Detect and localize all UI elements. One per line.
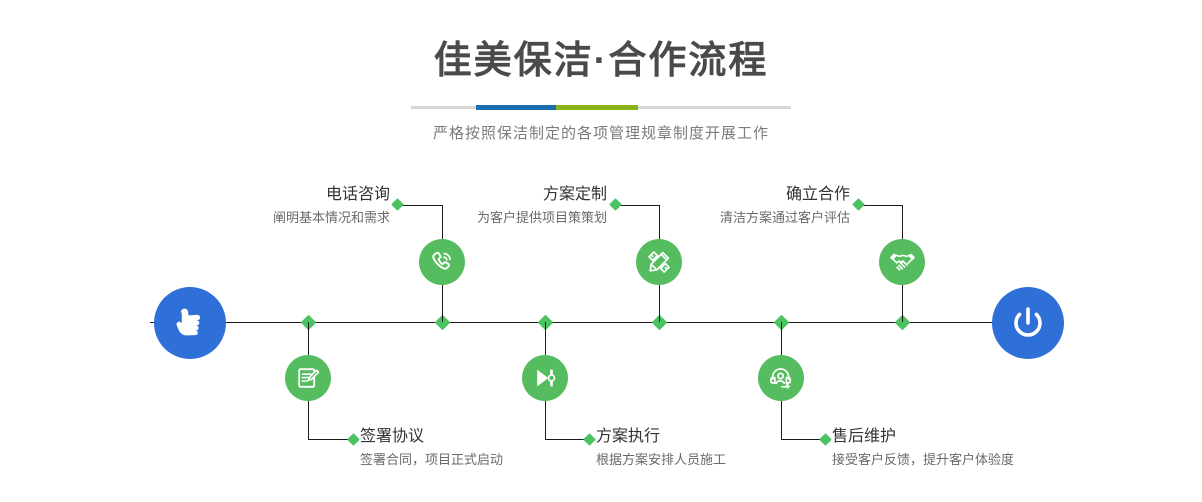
flow-start-node	[154, 287, 226, 359]
title-divider	[411, 106, 791, 109]
step-subtitle-1: 阐明基本情况和需求	[240, 211, 390, 226]
handshake-icon	[889, 249, 916, 276]
connector-hline-step5	[859, 205, 903, 206]
step-title-4: 方案执行	[596, 428, 816, 446]
step-title-2: 签署协议	[360, 428, 580, 446]
step-title-3: 方案定制	[457, 186, 607, 204]
timeline-axis	[150, 322, 1052, 323]
step-label-2: 签署协议 签署合同，项目正式启动	[360, 428, 580, 468]
flow-diagram-canvas: 佳美保洁·合作流程 严格按照保洁制定的各项管理规章制度开展工作	[0, 0, 1202, 502]
label-marker-step3	[609, 198, 622, 211]
step-label-5: 确立合作 清洁方案通过客户评估	[700, 186, 850, 226]
step-icon-3	[636, 239, 682, 285]
label-marker-step1	[391, 198, 404, 211]
divider-segment-green	[556, 105, 638, 110]
document-sign-icon	[295, 365, 321, 391]
step-icon-1	[419, 239, 465, 285]
label-marker-step4	[583, 433, 596, 446]
step-subtitle-2: 签署合同，项目正式启动	[360, 453, 580, 468]
header: 佳美保洁·合作流程 严格按照保洁制定的各项管理规章制度开展工作	[0, 0, 1202, 143]
step-icon-4	[522, 355, 568, 401]
connector-hline-step3	[616, 205, 660, 206]
flow-end-node	[992, 287, 1064, 359]
divider-segment-blue	[476, 105, 556, 110]
step-subtitle-4: 根据方案安排人员施工	[596, 453, 816, 468]
step-subtitle-3: 为客户提供项目策策划	[457, 211, 607, 226]
page-title: 佳美保洁·合作流程	[0, 0, 1202, 80]
pointing-hand-icon	[170, 303, 210, 343]
step-label-3: 方案定制 为客户提供项目策策划	[457, 186, 607, 226]
headset-support-icon	[768, 365, 794, 391]
step-label-6: 售后维护 接受客户反馈，提升客户体验度	[832, 428, 1072, 468]
step-icon-2	[285, 355, 331, 401]
label-marker-step2	[347, 433, 360, 446]
step-icon-6	[758, 355, 804, 401]
pencil-ruler-icon	[646, 249, 672, 275]
phone-call-icon	[429, 249, 455, 275]
power-icon	[1007, 302, 1049, 344]
label-marker-step6	[819, 433, 832, 446]
step-subtitle-5: 清洁方案通过客户评估	[700, 211, 850, 226]
play-execute-icon	[532, 365, 558, 391]
step-label-1: 电话咨询 阐明基本情况和需求	[240, 186, 390, 226]
step-title-6: 售后维护	[832, 428, 1072, 446]
step-title-5: 确立合作	[700, 186, 850, 204]
step-icon-5	[879, 239, 925, 285]
label-marker-step5	[852, 198, 865, 211]
step-subtitle-6: 接受客户反馈，提升客户体验度	[832, 453, 1072, 468]
page-subtitle: 严格按照保洁制定的各项管理规章制度开展工作	[0, 122, 1202, 143]
connector-hline-step1	[398, 205, 443, 206]
step-label-4: 方案执行 根据方案安排人员施工	[596, 428, 816, 468]
step-title-1: 电话咨询	[240, 186, 390, 204]
